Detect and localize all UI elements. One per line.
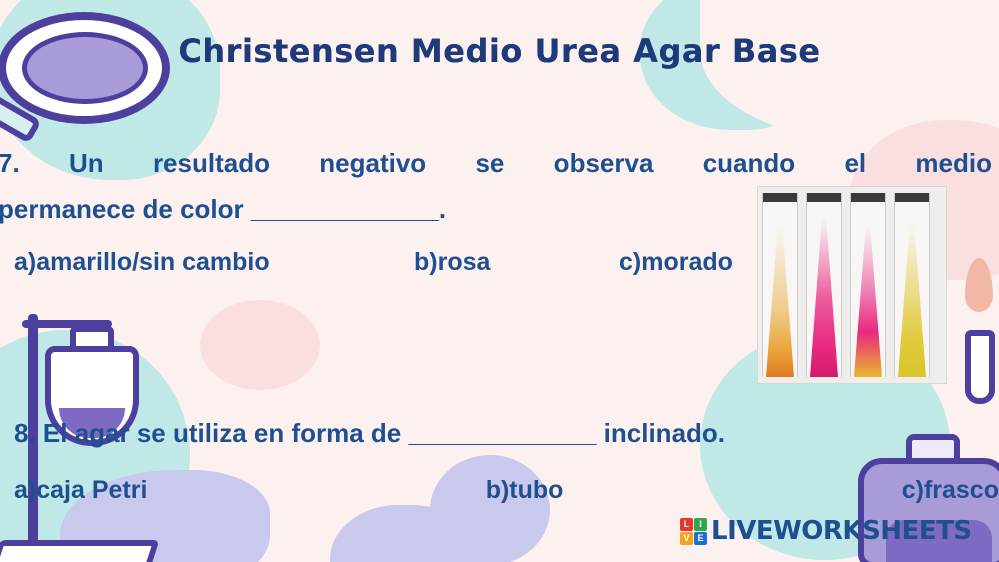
jar-body	[858, 458, 999, 562]
liveworksheets-wordmark: LIVEWORKSHEETS	[711, 516, 972, 546]
badge-letter-l: L	[680, 518, 693, 531]
question-7-option-b[interactable]: b)rosa	[414, 248, 619, 277]
question-8-text: 8. El agar se utiliza en forma de ______…	[14, 418, 725, 449]
decor-blob-pink-center	[200, 300, 320, 390]
question-7-option-a[interactable]: a)amarillo/sin cambio	[14, 248, 414, 277]
question-7-line1: 7. Un resultado negativo se observa cuan…	[0, 148, 992, 178]
flask-neck	[70, 326, 114, 352]
liveworksheets-badge: L I V E	[680, 518, 707, 545]
question-8-options: a)caja Petri b)tubo c)frasco	[14, 476, 999, 505]
badge-letter-e: E	[694, 532, 707, 545]
question-7-text: 7. Un resultado negativo se observa cuan…	[0, 140, 996, 232]
tube-medium	[854, 227, 882, 377]
tube-medium	[810, 219, 838, 377]
magnifier-icon	[0, 6, 188, 141]
question-7-option-c[interactable]: c)morado	[619, 248, 733, 277]
page-title: Christensen Medio Urea Agar Base	[0, 32, 999, 70]
question-7-options: a)amarillo/sin cambiob)rosac)morado	[14, 248, 794, 277]
badge-letter-i: I	[694, 518, 707, 531]
question-8-option-c[interactable]: c)frasco	[902, 476, 999, 505]
tube-medium	[898, 225, 926, 377]
worksheet-page: Christensen Medio Urea Agar Base 7. Un r…	[0, 0, 999, 562]
badge-letter-v: V	[680, 532, 693, 545]
question-8-option-a[interactable]: a)caja Petri	[14, 476, 147, 505]
liveworksheets-logo[interactable]: L I V E LIVEWORKSHEETS	[680, 516, 972, 546]
pipette-icon	[965, 330, 995, 404]
question-7-line2: permanece de color _____________.	[0, 186, 992, 232]
question-8-option-b[interactable]: b)tubo	[486, 476, 564, 505]
stand-base	[0, 540, 160, 562]
